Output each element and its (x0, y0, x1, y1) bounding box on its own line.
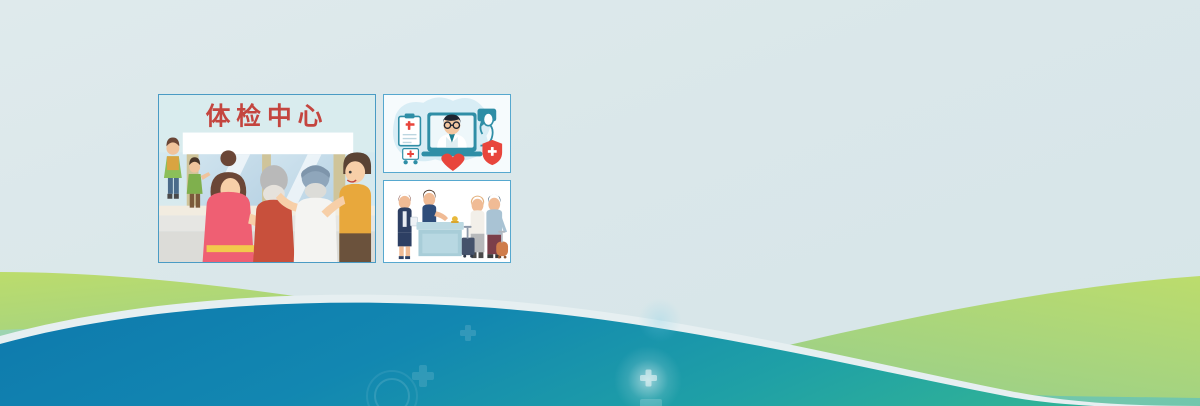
reception-desk (416, 216, 463, 256)
clipboard-icon (399, 114, 421, 146)
glow-watermark (614, 346, 682, 406)
panel-reception (383, 180, 511, 263)
circle-watermark (367, 371, 417, 406)
exam-centre-title: 体检中心 (206, 102, 329, 131)
sign-board (183, 133, 353, 155)
green-wave-left (0, 272, 1200, 406)
wave-watermarks (367, 310, 682, 406)
reception-illustration (384, 181, 510, 262)
stethoscope-head (483, 113, 493, 126)
right-panel-column (383, 94, 511, 263)
blue-wave (0, 303, 1200, 406)
square-watermark (640, 399, 662, 406)
image-collage: 体检中心 (158, 94, 511, 263)
cross-watermark (412, 365, 434, 387)
cross-watermark (654, 310, 666, 322)
cross-watermark (460, 325, 476, 341)
banner-root: 体检中心 (0, 0, 1200, 406)
green-wave-right (440, 276, 1200, 406)
circle-watermark (375, 379, 409, 406)
cross-watermark (640, 370, 657, 387)
mint-wave (0, 327, 1200, 406)
wave-separator (0, 295, 1200, 406)
panel-telemedicine (383, 94, 511, 173)
panel-exam-centre: 体检中心 (158, 94, 376, 263)
background-glow (638, 298, 682, 342)
exam-centre-illustration: 体检中心 (159, 95, 375, 262)
telemedicine-illustration (384, 95, 510, 172)
